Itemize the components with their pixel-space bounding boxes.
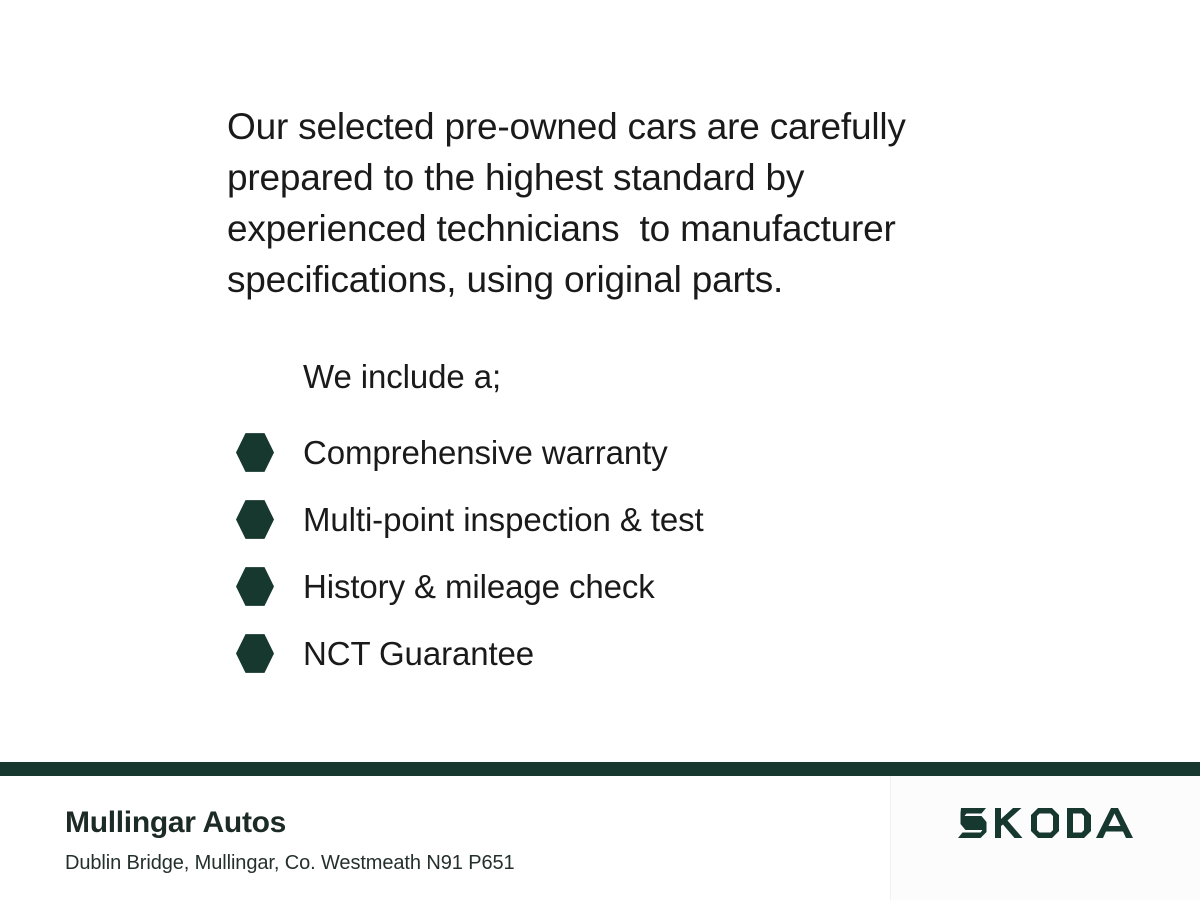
list-item-label: NCT Guarantee bbox=[303, 634, 534, 674]
headline-line-3: experienced technicians to manufacturer bbox=[227, 203, 1017, 254]
headline-line-4: specifications, using original parts. bbox=[227, 254, 1017, 305]
dealer-address: Dublin Bridge, Mullingar, Co. Westmeath … bbox=[65, 850, 515, 876]
brand-divider-band bbox=[0, 762, 1200, 776]
headline-line-1: Our selected pre-owned cars are carefull… bbox=[227, 101, 1017, 152]
footer: Mullingar Autos Dublin Bridge, Mullingar… bbox=[0, 776, 1200, 900]
dealer-name: Mullingar Autos bbox=[65, 805, 286, 841]
list-item: Comprehensive warranty bbox=[236, 419, 936, 486]
headline-paragraph: Our selected pre-owned cars are carefull… bbox=[227, 101, 1017, 305]
list-item-label: Multi-point inspection & test bbox=[303, 500, 704, 540]
skoda-logo bbox=[958, 803, 1140, 843]
include-lead-in: We include a; bbox=[303, 356, 501, 398]
hexagon-bullet-icon bbox=[236, 566, 274, 608]
hexagon-bullet-icon bbox=[236, 633, 274, 675]
list-item: NCT Guarantee bbox=[236, 620, 936, 687]
headline-line-2: prepared to the highest standard by bbox=[227, 152, 1017, 203]
hexagon-bullet-icon bbox=[236, 499, 274, 541]
list-item-label: History & mileage check bbox=[303, 567, 655, 607]
promo-slide: Our selected pre-owned cars are carefull… bbox=[0, 0, 1200, 900]
list-item-label: Comprehensive warranty bbox=[303, 433, 668, 473]
list-item: History & mileage check bbox=[236, 553, 936, 620]
hexagon-bullet-icon bbox=[236, 432, 274, 474]
inclusions-list: Comprehensive warranty Multi-point inspe… bbox=[236, 419, 936, 687]
list-item: Multi-point inspection & test bbox=[236, 486, 936, 553]
